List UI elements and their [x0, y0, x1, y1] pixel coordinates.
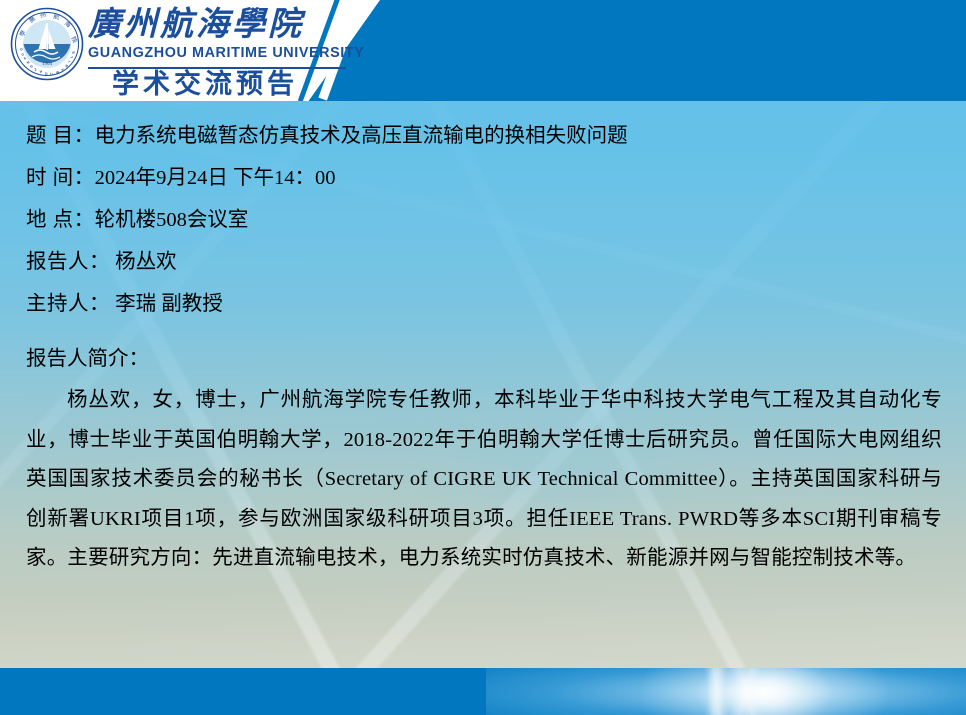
detail-value-host: 李瑞 副教授 — [110, 293, 223, 315]
svg-text:1964: 1964 — [42, 62, 53, 67]
announcement-poster: 1964 廣 州 航 海 學 院 G U A N G Z H O U M A — [0, 0, 966, 715]
detail-row-host: 主持人： 李瑞 副教授 — [26, 283, 942, 325]
detail-value-speaker: 杨丛欢 — [110, 251, 177, 273]
light-rays-icon — [486, 668, 966, 715]
detail-value-time: 2024年9月24日 下午14：00 — [95, 167, 336, 189]
poster-content: 题 目：电力系统电磁暂态仿真技术及高压直流输电的换相失败问题 时 间：2024年… — [0, 101, 966, 667]
detail-label-host: 主持人： — [26, 293, 110, 315]
detail-row-place: 地 点：轮机楼508会议室 — [26, 199, 942, 241]
detail-label-time: 时 间： — [26, 167, 95, 189]
detail-label-place: 地 点： — [26, 209, 95, 231]
detail-row-speaker: 报告人： 杨丛欢 — [26, 241, 942, 283]
detail-value-place: 轮机楼508会议室 — [95, 209, 249, 231]
poster-header: 1964 廣 州 航 海 學 院 G U A N G Z H O U M A — [0, 0, 966, 101]
detail-label-title: 题 目： — [26, 125, 95, 147]
detail-label-speaker: 报告人： — [26, 251, 110, 273]
bio-heading: 报告人简介： — [26, 339, 942, 379]
poster-footer-band — [0, 668, 966, 715]
university-name-en: GUANGZHOU MARITIME UNIVERSITY — [88, 45, 343, 62]
detail-row-title: 题 目：电力系统电磁暂态仿真技术及高压直流输电的换相失败问题 — [26, 115, 942, 157]
brand-block: 廣州航海學院 GUANGZHOU MARITIME UNIVERSITY — [88, 5, 346, 62]
bio-paragraph: 杨丛欢，女，博士，广州航海学院专任教师，本科毕业于华中科技大学电气工程及其自动化… — [26, 381, 942, 579]
university-seal-sailboat-icon: 1964 廣 州 航 海 學 院 G U A N G Z H O U M A — [10, 7, 84, 81]
detail-value-title: 电力系统电磁暂态仿真技术及高压直流输电的换相失败问题 — [95, 125, 628, 147]
university-name-cn: 廣州航海學院 — [88, 5, 346, 45]
poster-subtitle: 学术交流预告 — [112, 68, 298, 100]
detail-row-time: 时 间：2024年9月24日 下午14：00 — [26, 157, 942, 199]
